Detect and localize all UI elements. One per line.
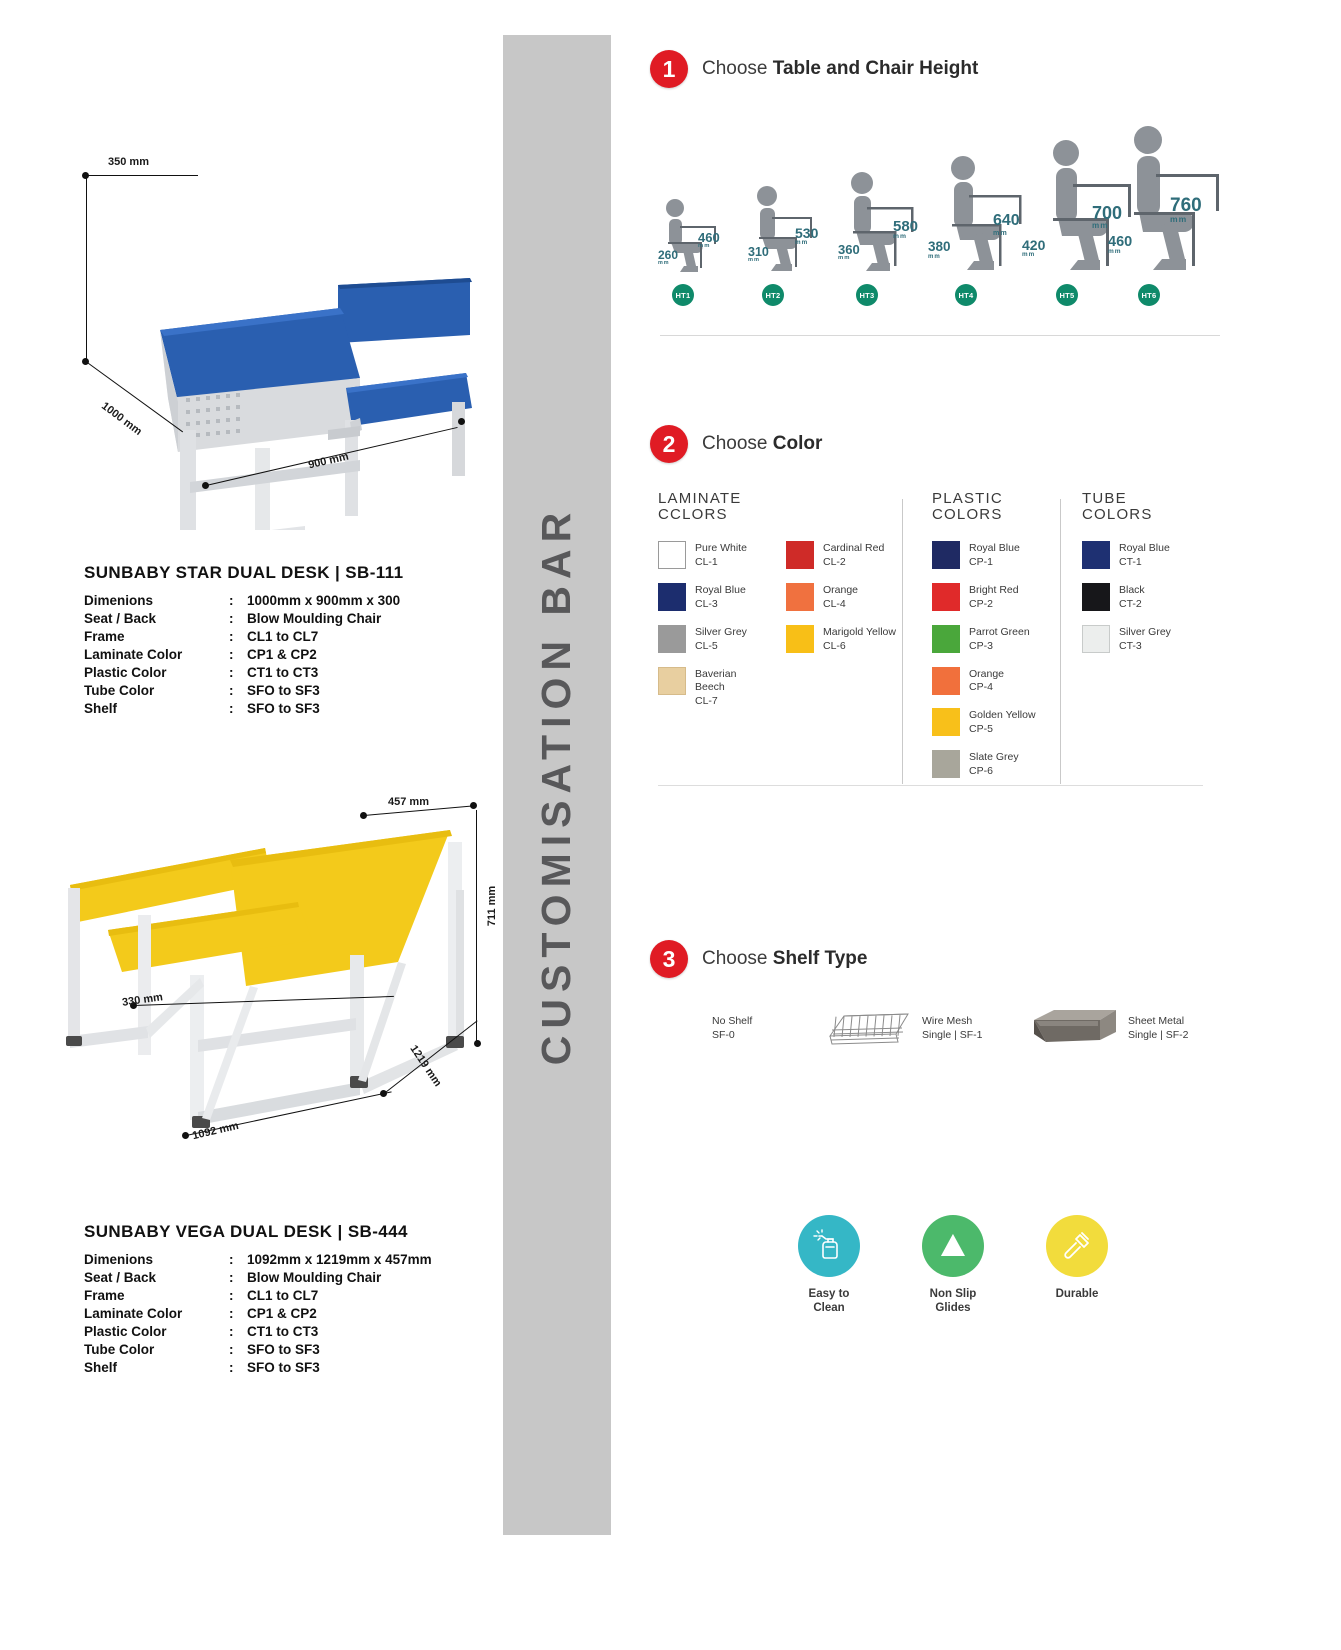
color-swatch-cp-2[interactable]: Bright RedCP-2 [932,583,1067,612]
spec-row: Laminate Color:CP1 & CP2 [84,1306,484,1321]
step-2-title: Choose Color [702,433,822,455]
spec-value: SFO to SF3 [247,683,320,698]
hammer-icon [1060,1229,1094,1263]
swatch-chip [1082,625,1110,653]
section-divider-1 [660,335,1220,336]
spec-value: CT1 to CT3 [247,1324,318,1339]
spec-value: CT1 to CT3 [247,665,318,680]
height-seat-ht3: 360mm [838,243,860,262]
swatch-chip [932,667,960,695]
swatch-name: Orange [969,668,1004,680]
feature-label: Non Slip Glides [914,1287,992,1316]
feature-non-slip-glides: Non Slip Glides [914,1215,992,1316]
swatch-code: CP-1 [969,556,1020,570]
height-tag-ht4[interactable]: HT4 [955,284,977,306]
feature-badges: Easy to Clean Non Slip Glides [790,1215,1116,1316]
plastic-head-line1: PLASTIC [932,491,1067,507]
swatch-text: OrangeCP-4 [969,667,1004,696]
height-chart: 260mm 460mm HT1 310mm 530mm HT2 [650,106,1215,306]
spec-key: Tube Color [84,1342,229,1357]
step-1-header: 1 Choose Table and Chair Height [650,50,1230,88]
swatch-name: Royal Blue [969,542,1020,554]
section-choose-color: 2 Choose Color LAMINATE CCLORS Pure Whit… [650,425,1230,791]
shelf-options: No Shelf SF-0 [698,1006,1230,1050]
spec-colon: : [229,1306,247,1321]
right-options-column: 1 Choose Table and Chair Height 260mm [640,0,1340,1650]
tube-colors-heading: TUBE COLORS [1082,491,1217,523]
spec-key: Plastic Color [84,665,229,680]
shelf-label: Wire Mesh Single | SF-1 [922,1014,983,1042]
swatch-code: CT-1 [1119,556,1170,570]
swatch-code: CL-2 [823,556,884,570]
spec-key: Laminate Color [84,647,229,662]
spec-row: Plastic Color:CT1 to CT3 [84,1324,484,1339]
dim-dot [458,418,465,425]
height-tag-ht5[interactable]: HT5 [1056,284,1078,306]
step-1-prefix: Choose [702,58,773,79]
spec-row: Tube Color:SFO to SF3 [84,1342,484,1357]
shelf-label-line1: Wire Mesh [922,1014,983,1028]
spec-colon: : [229,1252,247,1267]
swatch-text: Golden YellowCP-5 [969,708,1036,737]
feature-circle [922,1215,984,1277]
spec-colon: : [229,611,247,626]
dim-label-711mm: 711 mm [486,886,498,926]
swatch-chip [786,541,814,569]
swatch-text: Royal BlueCT-1 [1119,541,1170,570]
swatch-chip [932,541,960,569]
swatch-name: Cardinal Red [823,542,884,554]
spec-colon: : [229,593,247,608]
color-swatch-ct-2[interactable]: BlackCT-2 [1082,583,1217,612]
spray-bottle-icon [812,1229,846,1263]
swatch-name: Golden Yellow [969,709,1036,721]
height-table-ht6: 760mm [1170,196,1202,224]
shelf-label: No Shelf SF-0 [712,1014,752,1042]
spec-colon: : [229,1324,247,1339]
swatch-name: Silver Grey [695,626,747,638]
feature-circle [1046,1215,1108,1277]
swatch-text: Royal BlueCP-1 [969,541,1020,570]
swatch-code: CL-1 [695,556,747,570]
spec-colon: : [229,647,247,662]
height-seat-ht4: 380mm [928,240,951,260]
swatch-name: Royal Blue [695,584,746,596]
swatch-text: BlackCT-2 [1119,583,1145,612]
shelf-label-line2: SF-0 [712,1028,752,1042]
step-1-bold: Table and Chair Height [773,58,979,79]
spec-key: Laminate Color [84,1306,229,1321]
height-table-ht1: 460mm [698,231,720,250]
height-tag-ht1[interactable]: HT1 [672,284,694,306]
height-table-ht4: 640mm [993,213,1020,236]
spec-colon: : [229,665,247,680]
feature-label-line1: Easy to [790,1287,868,1301]
spec-row: Plastic Color:CT1 to CT3 [84,665,484,680]
spec-row: Shelf:SFO to SF3 [84,701,484,716]
spec-key: Tube Color [84,683,229,698]
swatch-name: Black [1119,584,1145,596]
swatch-text: Silver GreyCT-3 [1119,625,1171,654]
spec-value: Blow Moulding Chair [247,611,381,626]
swatch-chip [786,583,814,611]
shelf-option-sf-1[interactable]: Wire Mesh Single | SF-1 [824,1006,1024,1050]
spec-colon: : [229,683,247,698]
swatch-chip [932,583,960,611]
spec-colon: : [229,1360,247,1375]
plastic-head-line2: COLORS [932,507,1067,523]
step-3-bold: Shelf Type [773,948,868,969]
product-image-vega-desk: 457 mm 711 mm 330 mm 1219 mm 1092 mm [50,790,490,1190]
swatch-text: OrangeCL-4 [823,583,858,612]
spec-colon: : [229,701,247,716]
no-shelf-icon [698,1006,702,1050]
spec-colon: : [229,1342,247,1357]
swatch-chip [932,708,960,736]
spec-key: Frame [84,629,229,644]
swatch-name: Orange [823,584,858,596]
spec-block-vega-desk: SUNBABY VEGA DUAL DESK | SB-444 Dimenion… [84,1222,484,1378]
spec-key: Seat / Back [84,611,229,626]
feature-circle [798,1215,860,1277]
color-swatch-cl-7[interactable]: Baverian BeechCL-7 [658,667,768,710]
height-seat-ht2: 310mm [748,246,769,264]
shelf-label-line1: Sheet Metal [1128,1014,1189,1028]
spec-key: Shelf [84,701,229,716]
product-image-star-desk: 350 mm 1000 mm 900 mm [60,130,480,530]
spec-key: Dimenions [84,1252,229,1267]
step-2-prefix: Choose [702,433,773,454]
spec-value: CL1 to CL7 [247,1288,318,1303]
spec-key: Dimenions [84,593,229,608]
spec-colon: : [229,1288,247,1303]
height-seat-ht1: 260mm [658,249,678,266]
dim-label-350mm: 350 mm [108,156,149,168]
swatch-code: CP-4 [969,681,1004,695]
color-divider-2 [1060,499,1061,784]
spec-colon: : [229,1270,247,1285]
spec-key: Seat / Back [84,1270,229,1285]
swatch-text: Cardinal RedCL-2 [823,541,884,570]
step-3-header: 3 Choose Shelf Type [650,940,1230,978]
step-1-title: Choose Table and Chair Height [702,58,978,80]
color-group-laminate: LAMINATE CCLORS Pure WhiteCL-1 Royal Blu… [658,491,913,709]
color-swatch-cl-2[interactable]: Cardinal RedCL-2 [786,541,906,570]
height-tag-ht3[interactable]: HT3 [856,284,878,306]
left-product-column: 350 mm 1000 mm 900 mm SUNBABY STAR DUAL … [0,0,500,1650]
section-divider-2 [658,785,1203,786]
feature-label-line1: Non Slip [914,1287,992,1301]
spec-key: Frame [84,1288,229,1303]
spec-row: Shelf:SFO to SF3 [84,1360,484,1375]
color-group-tube: TUBE COLORS Royal BlueCT-1 BlackCT-2 Sil… [1082,491,1217,654]
glide-icon [935,1230,971,1262]
spec-value: CP1 & CP2 [247,647,317,662]
product-title-vega: SUNBABY VEGA DUAL DESK | SB-444 [84,1222,484,1242]
color-swatch-cl-6[interactable]: Marigold YellowCL-6 [786,625,906,654]
feature-durable: Durable [1038,1215,1116,1316]
swatch-code: CT-2 [1119,598,1145,612]
spec-value: 1000mm x 900mm x 300 [247,593,400,608]
feature-label-line1: Durable [1038,1287,1116,1301]
swatch-chip [1082,541,1110,569]
step-2-header: 2 Choose Color [650,425,1230,463]
height-tag-ht2[interactable]: HT2 [762,284,784,306]
height-table-ht3: 580mm [893,219,918,241]
product-title-star: SUNBABY STAR DUAL DESK | SB-111 [84,563,484,583]
swatch-chip [932,750,960,778]
section-choose-height: 1 Choose Table and Chair Height 260mm [650,50,1230,306]
swatch-name: Baverian Beech [695,668,736,694]
color-divider-1 [902,499,903,784]
swatch-text: Slate GreyCP-6 [969,750,1019,779]
wire-mesh-icon [824,1006,912,1050]
spec-row: Dimenions:1092mm x 1219mm x 457mm [84,1252,484,1267]
swatch-code: CT-3 [1119,640,1171,654]
swatch-chip [786,625,814,653]
swatch-name: Parrot Green [969,626,1030,638]
swatch-text: Parrot GreenCP-3 [969,625,1030,654]
feature-label: Easy to Clean [790,1287,868,1316]
swatch-text: Royal BlueCL-3 [695,583,746,612]
color-options-area: LAMINATE CCLORS Pure WhiteCL-1 Royal Blu… [650,491,1230,791]
swatch-name: Bright Red [969,584,1019,596]
shelf-label-line2: Single | SF-2 [1128,1028,1189,1042]
swatch-code: CL-3 [695,598,746,612]
color-swatch-cp-5[interactable]: Golden YellowCP-5 [932,708,1067,737]
shelf-label-line1: No Shelf [712,1014,752,1028]
swatch-chip [658,541,686,569]
color-group-plastic: PLASTIC COLORS Royal BlueCP-1 Bright Red… [932,491,1067,779]
swatch-name: Slate Grey [969,751,1019,763]
swatch-name: Marigold Yellow [823,626,896,638]
step-3-badge: 3 [650,940,688,978]
spec-row: Seat / Back:Blow Moulding Chair [84,1270,484,1285]
step-3-title: Choose Shelf Type [702,948,867,970]
customisation-bar: CUSTOMISATION BAR [503,35,611,1535]
spec-value: Blow Moulding Chair [247,1270,381,1285]
swatch-code: CL-7 [695,695,768,709]
swatch-code: CP-3 [969,640,1030,654]
spec-row: Tube Color:SFO to SF3 [84,683,484,698]
color-swatch-cl-4[interactable]: OrangeCL-4 [786,583,906,612]
shelf-option-sf-0[interactable]: No Shelf SF-0 [698,1006,818,1050]
feature-label: Durable [1038,1287,1116,1301]
swatch-name: Pure White [695,542,747,554]
feature-label-line2: Clean [790,1301,868,1315]
color-swatch-ct-3[interactable]: Silver GreyCT-3 [1082,625,1217,654]
swatch-text: Silver GreyCL-5 [695,625,747,654]
swatch-code: CL-6 [823,640,896,654]
spec-row: Frame:CL1 to CL7 [84,1288,484,1303]
step-3-prefix: Choose [702,948,773,969]
shelf-label-line2: Single | SF-1 [922,1028,983,1042]
laminate-head-line2: CCLORS [658,507,913,523]
step-1-badge: 1 [650,50,688,88]
customisation-bar-label: CUSTOMISATION BAR [534,505,581,1064]
shelf-label: Sheet Metal Single | SF-2 [1128,1014,1189,1042]
color-swatch-cl-1[interactable]: Pure WhiteCL-1 [658,541,768,570]
laminate-head-line1: LAMINATE [658,491,913,507]
step-2-badge: 2 [650,425,688,463]
color-swatch-cp-3[interactable]: Parrot GreenCP-3 [932,625,1067,654]
swatch-chip [658,583,686,611]
tube-head-line1: TUBE [1082,491,1217,507]
dim-label-457mm: 457 mm [388,796,429,808]
feature-label-line2: Glides [914,1301,992,1315]
swatch-code: CP-2 [969,598,1019,612]
color-swatch-cp-1[interactable]: Royal BlueCP-1 [932,541,1067,570]
spec-value: SFO to SF3 [247,1342,320,1357]
spec-value: SFO to SF3 [247,1360,320,1375]
feature-easy-to-clean: Easy to Clean [790,1215,868,1316]
swatch-chip [658,667,686,695]
swatch-code: CP-6 [969,765,1019,779]
swatch-text: Marigold YellowCL-6 [823,625,896,654]
spec-row: Frame:CL1 to CL7 [84,629,484,644]
color-swatch-cl-5[interactable]: Silver GreyCL-5 [658,625,768,654]
swatch-code: CL-4 [823,598,858,612]
spec-row: Laminate Color:CP1 & CP2 [84,647,484,662]
swatch-name: Royal Blue [1119,542,1170,554]
swatch-chip [1082,583,1110,611]
sheet-metal-icon [1030,1006,1118,1050]
swatch-text: Bright RedCP-2 [969,583,1019,612]
spec-value: CL1 to CL7 [247,629,318,644]
color-swatch-cp-6[interactable]: Slate GreyCP-6 [932,750,1067,779]
plastic-colors-heading: PLASTIC COLORS [932,491,1067,523]
spec-row: Seat / Back:Blow Moulding Chair [84,611,484,626]
spec-block-star-desk: SUNBABY STAR DUAL DESK | SB-111 Dimenion… [84,563,484,719]
shelf-option-sf-2[interactable]: Sheet Metal Single | SF-2 [1030,1006,1230,1050]
spec-value: CP1 & CP2 [247,1306,317,1321]
spec-key: Plastic Color [84,1324,229,1339]
spec-value: SFO to SF3 [247,701,320,716]
swatch-code: CP-5 [969,723,1036,737]
height-seat-ht5: 420mm [1022,238,1045,258]
swatch-chip [932,625,960,653]
swatch-code: CL-5 [695,640,747,654]
spec-row: Dimenions:1000mm x 900mm x 300 [84,593,484,608]
swatch-text: Baverian BeechCL-7 [695,667,768,710]
spec-value: 1092mm x 1219mm x 457mm [247,1252,432,1267]
spec-key: Shelf [84,1360,229,1375]
height-seat-ht6: 460mm [1108,235,1132,256]
tube-head-line2: COLORS [1082,507,1217,523]
color-swatch-cp-4[interactable]: OrangeCP-4 [932,667,1067,696]
height-table-ht2: 530mm [795,226,818,246]
color-swatch-cl-3[interactable]: Royal BlueCL-3 [658,583,768,612]
swatch-text: Pure WhiteCL-1 [695,541,747,570]
color-swatch-ct-1[interactable]: Royal BlueCT-1 [1082,541,1217,570]
step-2-bold: Color [773,433,823,454]
spec-colon: : [229,629,247,644]
swatch-chip [658,625,686,653]
swatch-name: Silver Grey [1119,626,1171,638]
height-tag-ht6[interactable]: HT6 [1138,284,1160,306]
section-choose-shelf: 3 Choose Shelf Type No Shelf SF-0 [650,940,1230,1050]
laminate-colors-heading: LAMINATE CCLORS [658,491,913,523]
